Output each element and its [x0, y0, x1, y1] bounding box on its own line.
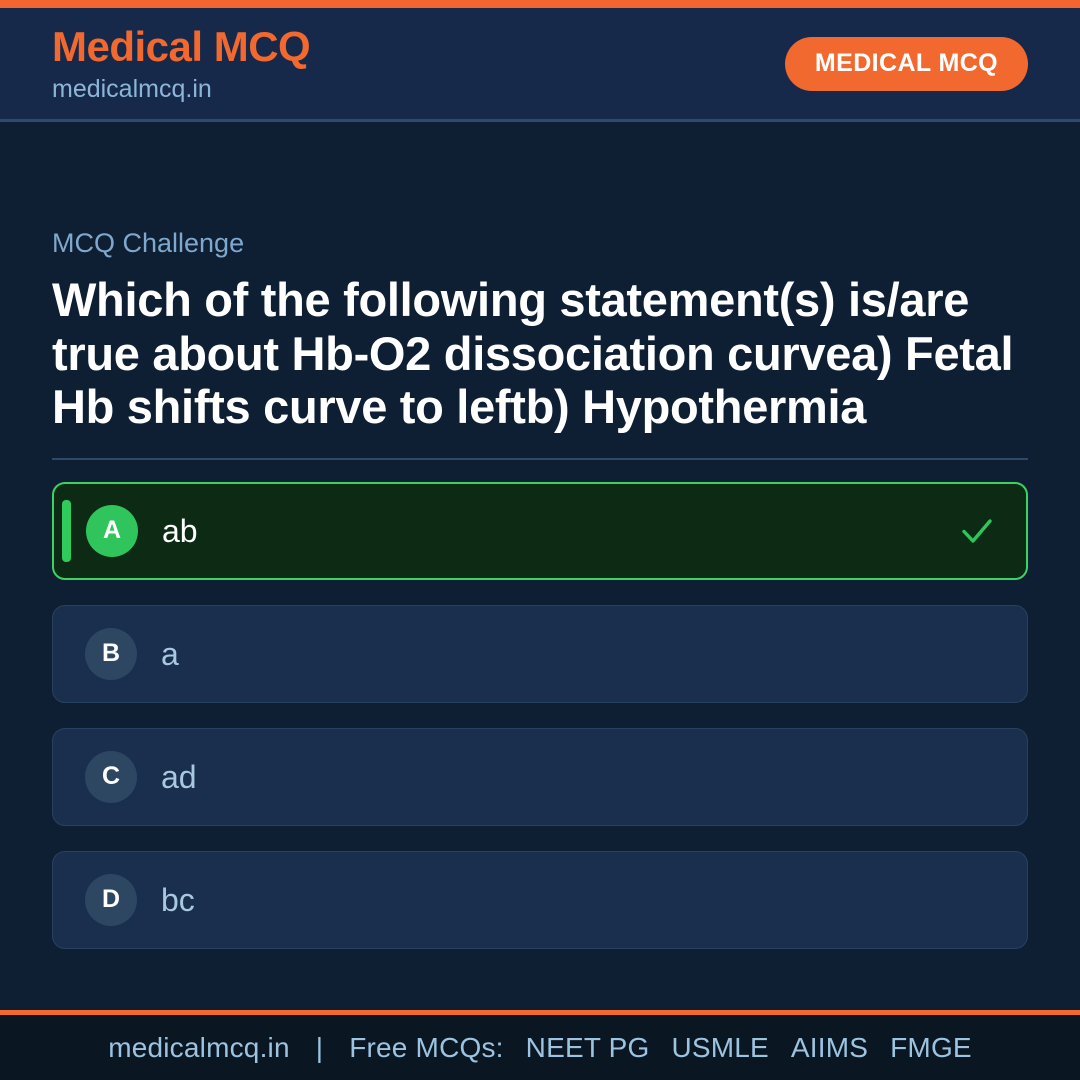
option-text-d: bc [161, 884, 997, 916]
option-row-c[interactable]: C ad [52, 728, 1028, 826]
footer-text: medicalmcq.in | Free MCQs: NEET PG USMLE… [108, 1032, 972, 1064]
footer-exam-aiims[interactable]: AIIMS [791, 1032, 868, 1064]
footer-exam-neet-pg[interactable]: NEET PG [526, 1032, 650, 1064]
mcq-card-page: Medical MCQ medicalmcq.in MEDICAL MCQ MC… [0, 0, 1080, 1080]
footer-site[interactable]: medicalmcq.in [108, 1032, 290, 1063]
option-text-a: ab [162, 515, 958, 547]
question-divider [52, 458, 1028, 460]
check-icon [958, 512, 996, 550]
options-list: A ab B a C [52, 482, 1028, 949]
option-row-b[interactable]: B a [52, 605, 1028, 703]
option-letter-badge-d: D [85, 874, 137, 926]
option-letter-badge-c: C [85, 751, 137, 803]
option-text-b: a [161, 638, 997, 670]
question-text: Which of the following statement(s) is/a… [52, 273, 1028, 434]
eyebrow-label: MCQ Challenge [52, 230, 1028, 257]
page-footer: medicalmcq.in | Free MCQs: NEET PG USMLE… [0, 1010, 1080, 1080]
option-row-d[interactable]: D bc [52, 851, 1028, 949]
main-content: MCQ Challenge Which of the following sta… [0, 122, 1080, 1010]
option-text-c: ad [161, 761, 997, 793]
page-header: Medical MCQ medicalmcq.in MEDICAL MCQ [0, 8, 1080, 122]
brand-title: Medical MCQ [52, 25, 310, 69]
footer-exam-fmge[interactable]: FMGE [890, 1032, 972, 1064]
option-letter-badge-b: B [85, 628, 137, 680]
footer-exams-label: Free MCQs: [349, 1032, 503, 1063]
footer-separator: | [316, 1032, 323, 1064]
header-badge[interactable]: MEDICAL MCQ [785, 37, 1028, 91]
brand: Medical MCQ medicalmcq.in [52, 25, 310, 101]
footer-exam-usmle[interactable]: USMLE [671, 1032, 768, 1064]
option-letter-badge-a: A [86, 505, 138, 557]
brand-subtitle: medicalmcq.in [52, 77, 310, 102]
option-row-a[interactable]: A ab [52, 482, 1028, 580]
correct-accent-bar [62, 500, 71, 562]
top-accent-bar [0, 0, 1080, 8]
